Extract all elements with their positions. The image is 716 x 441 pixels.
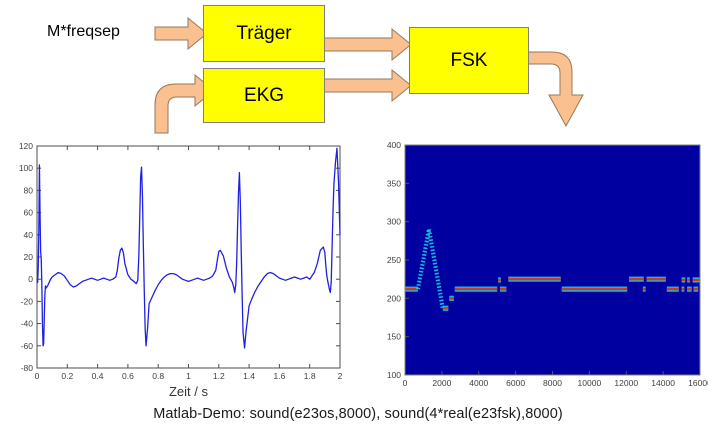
x-tick-label: 0.2 xyxy=(61,371,73,381)
x-tick-label: 12000 xyxy=(614,378,638,388)
slide-canvas: M*freqsep Träger EKG FSK 00.20.40.60.811… xyxy=(0,0,716,441)
y-tick-label: 300 xyxy=(387,217,401,227)
chart-fsk-spectrogram: 0200040006000800010000120001400016000100… xyxy=(372,140,708,398)
block-fsk[interactable]: FSK xyxy=(409,27,529,94)
arrow-ekg-to-fsk xyxy=(323,70,411,101)
y-tick-label: 350 xyxy=(387,178,401,188)
x-tick-label: 14000 xyxy=(651,378,675,388)
y-tick-label: -60 xyxy=(21,341,34,351)
y-tick-label: 120 xyxy=(19,141,33,151)
y-tick-label: 100 xyxy=(387,370,401,380)
y-tick-label: 150 xyxy=(387,332,401,342)
chart-ecg-timeseries: 00.20.40.60.811.21.41.61.82-80-60-40-200… xyxy=(8,140,356,398)
y-tick-label: 200 xyxy=(387,293,401,303)
y-tick-label: -20 xyxy=(21,296,34,306)
block-ekg[interactable]: EKG xyxy=(203,68,325,123)
ecg-plot-svg: 00.20.40.60.811.21.41.61.82-80-60-40-200… xyxy=(8,140,356,398)
x-tick-label: 1.4 xyxy=(243,371,255,381)
x-tick-label: 4000 xyxy=(469,378,488,388)
arrow-traeger-to-fsk xyxy=(323,29,411,60)
y-tick-label: 20 xyxy=(24,252,34,262)
x-tick-label: 0 xyxy=(35,371,40,381)
x-tick-label: 0.4 xyxy=(92,371,104,381)
ecg-plot-frame xyxy=(37,146,340,368)
x-tick-label: 6000 xyxy=(506,378,525,388)
x-tick-label: 16000 xyxy=(688,378,708,388)
diagram-arrows-layer xyxy=(0,0,716,138)
y-tick-label: -80 xyxy=(21,363,34,373)
block-traeger[interactable]: Träger xyxy=(203,5,325,62)
x-tick-label: 1.6 xyxy=(273,371,285,381)
y-tick-label: 100 xyxy=(19,163,33,173)
y-tick-label: 0 xyxy=(28,274,33,284)
y-tick-label: 80 xyxy=(24,185,34,195)
x-tick-label: 10000 xyxy=(578,378,602,388)
input-label-freqsep: M*freqsep xyxy=(47,23,120,41)
x-tick-label: 1.8 xyxy=(304,371,316,381)
x-tick-label: 2 xyxy=(338,371,343,381)
x-axis-label: Zeit / s xyxy=(169,384,209,398)
x-tick-label: 0.6 xyxy=(122,371,134,381)
x-tick-label: 1 xyxy=(186,371,191,381)
y-tick-label: 250 xyxy=(387,255,401,265)
fsk-plot-svg: 0200040006000800010000120001400016000100… xyxy=(372,140,708,398)
demo-caption: Matlab-Demo: sound(e23os,8000), sound(4*… xyxy=(0,406,716,422)
x-tick-label: 0 xyxy=(403,378,408,388)
x-tick-label: 0.8 xyxy=(152,371,164,381)
x-tick-label: 1.2 xyxy=(213,371,225,381)
y-tick-label: 400 xyxy=(387,140,401,150)
y-tick-label: 40 xyxy=(24,230,34,240)
x-tick-label: 8000 xyxy=(543,378,562,388)
spectrogram-background xyxy=(405,145,700,375)
y-tick-label: 60 xyxy=(24,208,34,218)
block-diagram: M*freqsep Träger EKG FSK xyxy=(0,0,716,138)
arrow-fsk-output xyxy=(526,52,583,126)
y-tick-label: -40 xyxy=(21,319,34,329)
arrow-freqsep-to-traeger xyxy=(155,18,207,49)
x-tick-label: 2000 xyxy=(432,378,451,388)
